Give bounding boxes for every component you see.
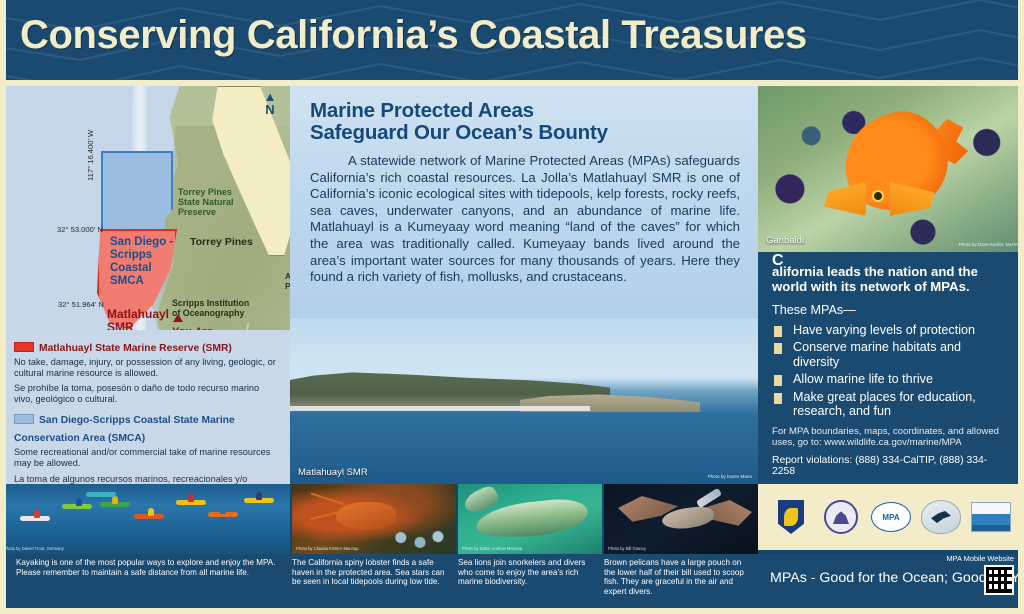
caption-pelican: Brown pelicans have a large pouch on the… [604, 558, 754, 596]
kayak-photo-credit: Photo by Daniel Trout, Germany [4, 546, 64, 551]
caption-sealion: Sea lions join snorkelers and divers who… [458, 558, 598, 587]
main-heading-line1: Marine Protected Areas [310, 99, 534, 122]
mobile-website-label: MPA Mobile Website [947, 554, 1015, 563]
qr-code-icon[interactable] [984, 565, 1014, 595]
interpretive-sign: Conserving California’s Coastal Treasure… [0, 0, 1024, 614]
map-coordinate-north: 32° 53.000' N [57, 225, 103, 234]
legend-item-smr: Matlahuayl State Marine Reserve (SMR) No… [14, 338, 278, 404]
bullet-text: Allow marine life to thrive [793, 372, 933, 386]
list-item: Allow marine life to thrive [772, 372, 1010, 386]
info-panel-report-violations: Report violations: (888) 334-CalTIP, (88… [772, 455, 1010, 477]
logo-state-seal-icon [821, 497, 861, 537]
main-heading: Marine Protected Areas Safeguard Our Oce… [310, 100, 740, 144]
legend-swatch-smr [14, 342, 34, 352]
sealion-photo-credit: Photo by Diane Andrew Mannap [462, 546, 522, 551]
map-coordinate-west: 117° 16.400' W [86, 130, 95, 181]
main-body-text: A statewide network of Marine Protected … [310, 153, 740, 286]
main-heading-line2: Safeguard Our Ocean’s Bounty [310, 121, 608, 144]
lobster-photo: Photo by Claudia Kirsten-Mannap [292, 484, 456, 554]
info-panel-heading: California leads the nation and the worl… [772, 264, 1010, 294]
logo-cdfw-icon [771, 497, 811, 537]
info-panel-heading-text: alifornia leads the nation and the world… [772, 264, 978, 294]
map-region-smca [101, 151, 173, 231]
title-banner: Conserving California’s Coastal Treasure… [0, 0, 1024, 80]
caption-kayak: Kayaking is one of the most popular ways… [16, 558, 278, 577]
info-panel-dropcap: C [772, 256, 784, 266]
info-panel-subheading: These MPAs— [772, 303, 1010, 317]
coastal-photo-credit: Photo by Karen Mann [708, 474, 752, 479]
map-coordinate-south: 32° 51.964' N [58, 300, 104, 309]
legend-body-smr-es: Se prohíbe la toma, posesón o daño de to… [14, 383, 278, 404]
legend-title-smr: Matlahuayl State Marine Reserve (SMR) [39, 343, 232, 354]
you-are-here-marker-icon [173, 314, 183, 322]
bullet-text: Conserve marine habitats and diversity [793, 340, 1010, 369]
mpa-info-panel: California leads the nation and the worl… [758, 252, 1024, 484]
main-text-panel: Marine Protected Areas Safeguard Our Oce… [290, 86, 758, 318]
list-item: Make great places for education, researc… [772, 390, 1010, 419]
list-item: Conserve marine habitats and diversity [772, 340, 1010, 369]
bullet-square-icon [774, 375, 782, 386]
caption-lobster: The California spiny lobster finds a saf… [292, 558, 450, 587]
logo-coastal-commission-icon [971, 497, 1011, 537]
garibaldi-photo: Garibaldi Photo by Dave Keefer, MLPA [758, 86, 1024, 252]
garibaldi-photo-label: Garibaldi [766, 235, 804, 246]
list-item: Have varying levels of protection [772, 323, 1010, 337]
map-label-scripps: Scripps Institution of Oceanography [172, 298, 249, 318]
legend-body-smca-en: Some recreational and/or commercial take… [14, 447, 278, 468]
coastal-photo: Matlahuayl SMR Photo by Karen Mann [290, 318, 758, 484]
legend-item-smca: San Diego-Scripps Coastal State Marine C… [14, 410, 278, 494]
bullet-text: Have varying levels of protection [793, 323, 975, 337]
bullet-square-icon [774, 343, 782, 354]
legend-swatch-smca [14, 414, 34, 424]
legend-body-smr-en: No take, damage, injury, or possession o… [14, 357, 278, 378]
lobster-body [336, 502, 396, 530]
lobster-photo-credit: Photo by Claudia Kirsten-Mannap [296, 546, 359, 551]
coastal-photo-label: Matlahuayl SMR [298, 467, 368, 478]
bullet-square-icon [774, 393, 782, 404]
map-legend: Matlahuayl State Marine Reserve (SMR) No… [0, 330, 290, 490]
sealion-photo: Photo by Diane Andrew Mannap [458, 484, 602, 554]
compass-arrow-icon: ▲ [259, 92, 281, 102]
agency-logo-strip: MPA [758, 484, 1024, 550]
page-title: Conserving California’s Coastal Treasure… [20, 13, 807, 58]
legend-title-smca: San Diego-Scripps Coastal State Marine C… [14, 415, 235, 444]
info-panel-bullet-list: Have varying levels of protection Conser… [772, 323, 1010, 418]
pelican-photo-credit: Photo by Bill Gracey [608, 546, 646, 551]
map-label-torrey-pines-preserve: Torrey Pines State Natural Preserve [178, 187, 234, 217]
garibaldi-fin-left [824, 182, 866, 216]
kayak-photo: Photo by Daniel Trout, Germany [0, 484, 290, 554]
logo-mpa-foundation-icon [921, 497, 961, 537]
garibaldi-eye [874, 192, 882, 200]
compass-north-label: N [259, 102, 281, 117]
map-label-torrey-pines: Torrey Pines [190, 236, 253, 249]
bullet-square-icon [774, 326, 782, 337]
logo-san-diego-mpa-icon: MPA [871, 497, 911, 537]
bullet-text: Make great places for education, researc… [793, 390, 1010, 419]
pelican-photo: Photo by Bill Gracey [604, 484, 758, 554]
sea-stars [388, 528, 452, 552]
caption-strip: Kayaking is one of the most popular ways… [0, 554, 1024, 614]
compass-icon: ▲ N [259, 92, 281, 117]
garibaldi-photo-credit: Photo by Dave Keefer, MLPA [959, 242, 1018, 247]
info-panel-more-info: For MPA boundaries, maps, coordinates, a… [772, 426, 1010, 448]
map-label-smca: San Diego - Scripps Coastal SMCA [110, 236, 173, 288]
coastal-surf-line [290, 406, 590, 411]
